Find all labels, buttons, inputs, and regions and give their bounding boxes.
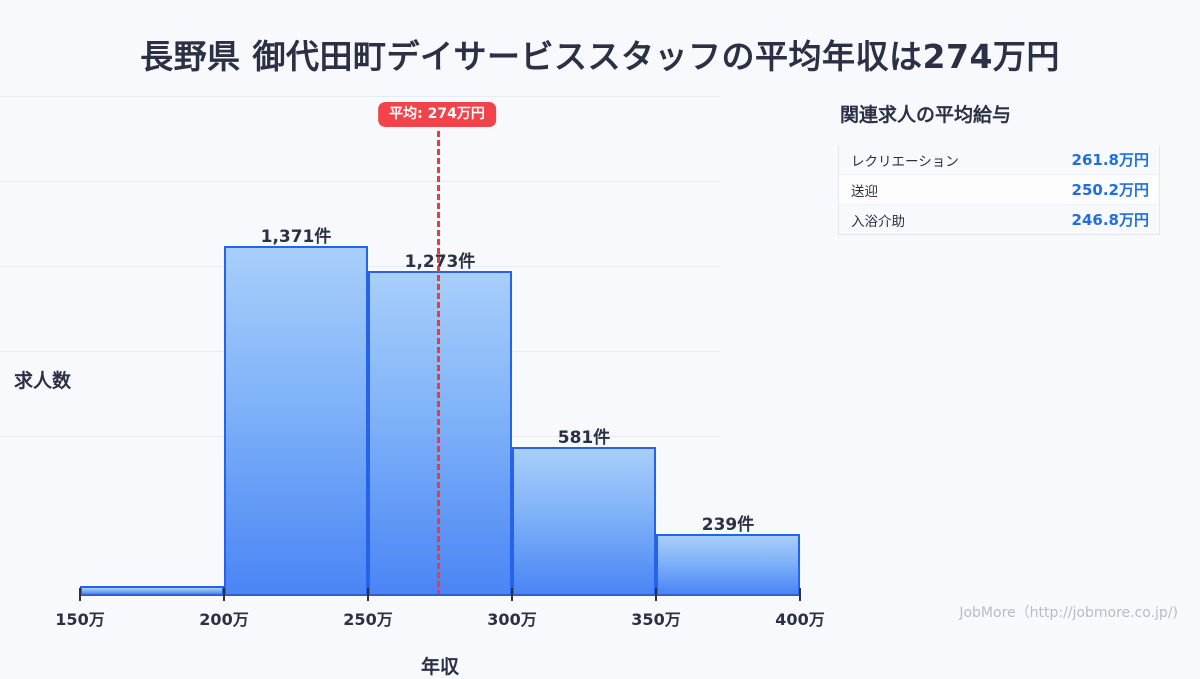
x-tick [655, 588, 657, 601]
chart-page: 長野県 御代田町デイサービススタッフの平均年収は274万円 1,371件 1,2… [0, 0, 1200, 630]
bar-300-350[interactable] [512, 447, 656, 596]
row-label: 入浴介助 [851, 210, 905, 230]
gridline [0, 181, 720, 182]
x-tick [79, 588, 81, 601]
table-row[interactable]: レクリエーション 261.8万円 [839, 145, 1159, 175]
x-tick-label: 350万 [631, 606, 680, 630]
x-tick-label: 150万 [55, 606, 104, 630]
related-salary-table: レクリエーション 261.8万円 送迎 250.2万円 入浴介助 246.8万円 [838, 145, 1160, 235]
average-badge: 平均: 274万円 [378, 102, 496, 127]
y-axis-title: 求人数 [14, 366, 71, 393]
x-tick [367, 588, 369, 601]
table-row[interactable]: 入浴介助 246.8万円 [839, 205, 1159, 235]
x-tick [799, 588, 801, 601]
bar-label: 581件 [558, 423, 611, 448]
row-value: 250.2万円 [1072, 179, 1149, 200]
related-salary-title: 関連求人の平均給与 [840, 100, 1168, 127]
x-tick-label: 250万 [343, 606, 392, 630]
bar-label: 239件 [702, 510, 755, 535]
bar-200-250[interactable] [224, 246, 368, 596]
row-value: 246.8万円 [1072, 209, 1149, 230]
bar-350-400[interactable] [656, 534, 800, 596]
histogram-chart: 1,371件 1,273件 581件 239件 平均: 274万円 150万 2… [0, 85, 830, 585]
row-value: 261.8万円 [1072, 149, 1149, 170]
table-row[interactable]: 送迎 250.2万円 [839, 175, 1159, 205]
x-tick [511, 588, 513, 601]
average-line [437, 131, 440, 596]
bar-label: 1,273件 [405, 247, 476, 272]
footer-credit: JobMore（http://jobmore.co.jp/) [959, 602, 1178, 622]
x-tick [223, 588, 225, 601]
row-label: レクリエーション [851, 150, 959, 170]
x-axis-title: 年収 [0, 652, 880, 679]
x-axis-line [80, 594, 800, 596]
bar-label: 1,371件 [261, 222, 332, 247]
bar-250-300[interactable] [368, 271, 512, 596]
x-tick-label: 200万 [199, 606, 248, 630]
gridline [0, 96, 720, 97]
page-title: 長野県 御代田町デイサービススタッフの平均年収は274万円 [0, 30, 1200, 78]
related-salary-panel: 関連求人の平均給与 レクリエーション 261.8万円 送迎 250.2万円 入浴… [838, 100, 1168, 235]
x-tick-label: 300万 [487, 606, 536, 630]
x-tick-label: 400万 [775, 606, 824, 630]
row-label: 送迎 [851, 180, 878, 200]
